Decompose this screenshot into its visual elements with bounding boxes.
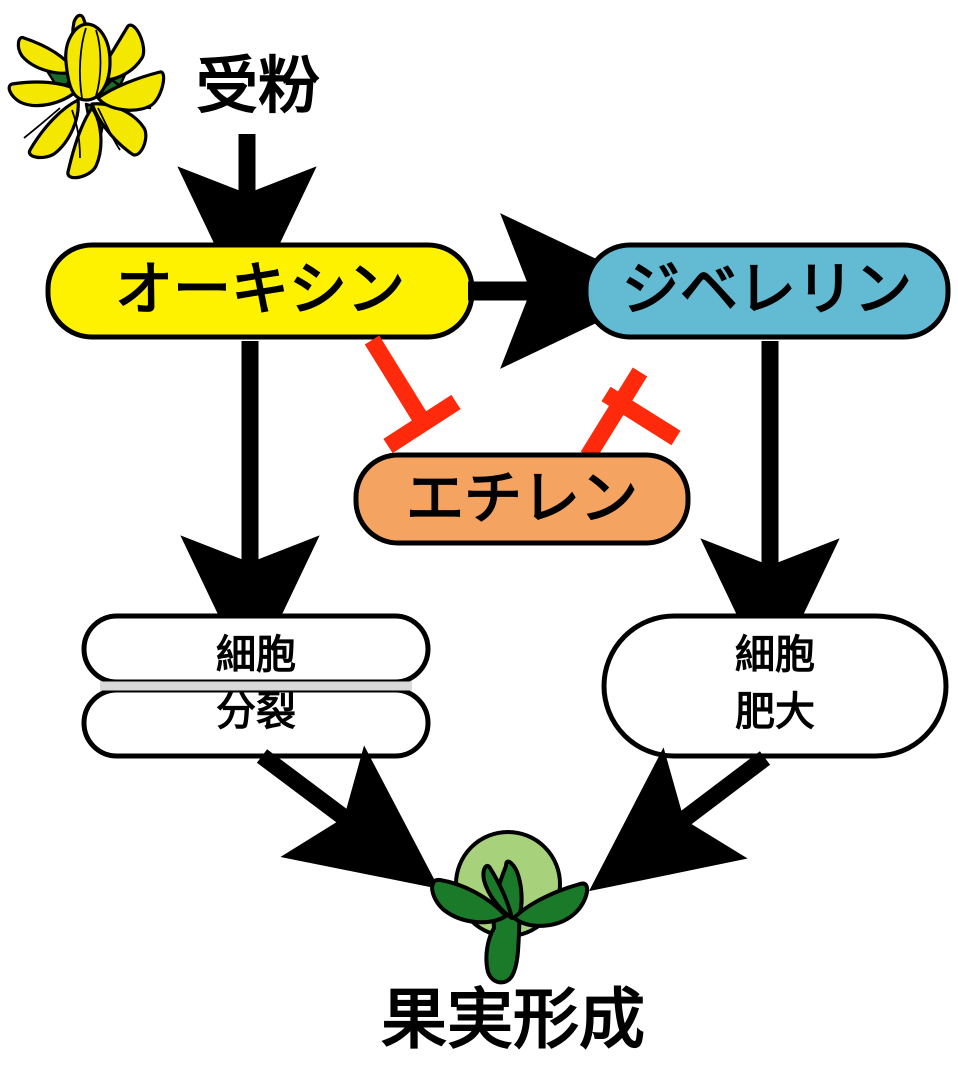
pollination-label: 受粉 [196,49,320,122]
auxin-label: オーキシン [115,255,405,323]
node-auxin[interactable]: オーキシン [48,245,472,337]
node-ethylene[interactable]: エチレン [356,455,688,543]
fruit-formation-label: 果実形成 [381,981,645,1058]
edge-cell-division-to-fruit [262,756,378,843]
node-cell-division[interactable]: 細胞 分裂 [84,616,428,756]
ethylene-label: エチレン [406,464,638,532]
cell-enlargement-label-line2: 肥大 [735,689,815,735]
gibberellin-label: ジベレリン [622,255,912,323]
green-fruit-icon [432,832,587,982]
pollination-fruit-set-diagram: 受粉 オーキシン ジベレリン エチレン [0,0,958,1077]
cell-division-label-line1: 細胞 [216,632,296,678]
yellow-flower-icon [9,15,163,177]
edge-cell-enlargement-to-fruit [650,758,765,845]
cell-enlargement-label-line1: 細胞 [735,632,815,678]
edge-ethylene-inhibits-gibberellin [588,372,676,456]
node-gibberellin[interactable]: ジベレリン [586,245,948,337]
cell-division-label-line2: 分裂 [216,689,296,735]
edge-auxin-inhibits-ethylene [372,340,456,446]
node-cell-enlargement[interactable]: 細胞 肥大 [604,616,946,756]
diagram-canvas: 受粉 オーキシン ジベレリン エチレン [0,0,958,1077]
